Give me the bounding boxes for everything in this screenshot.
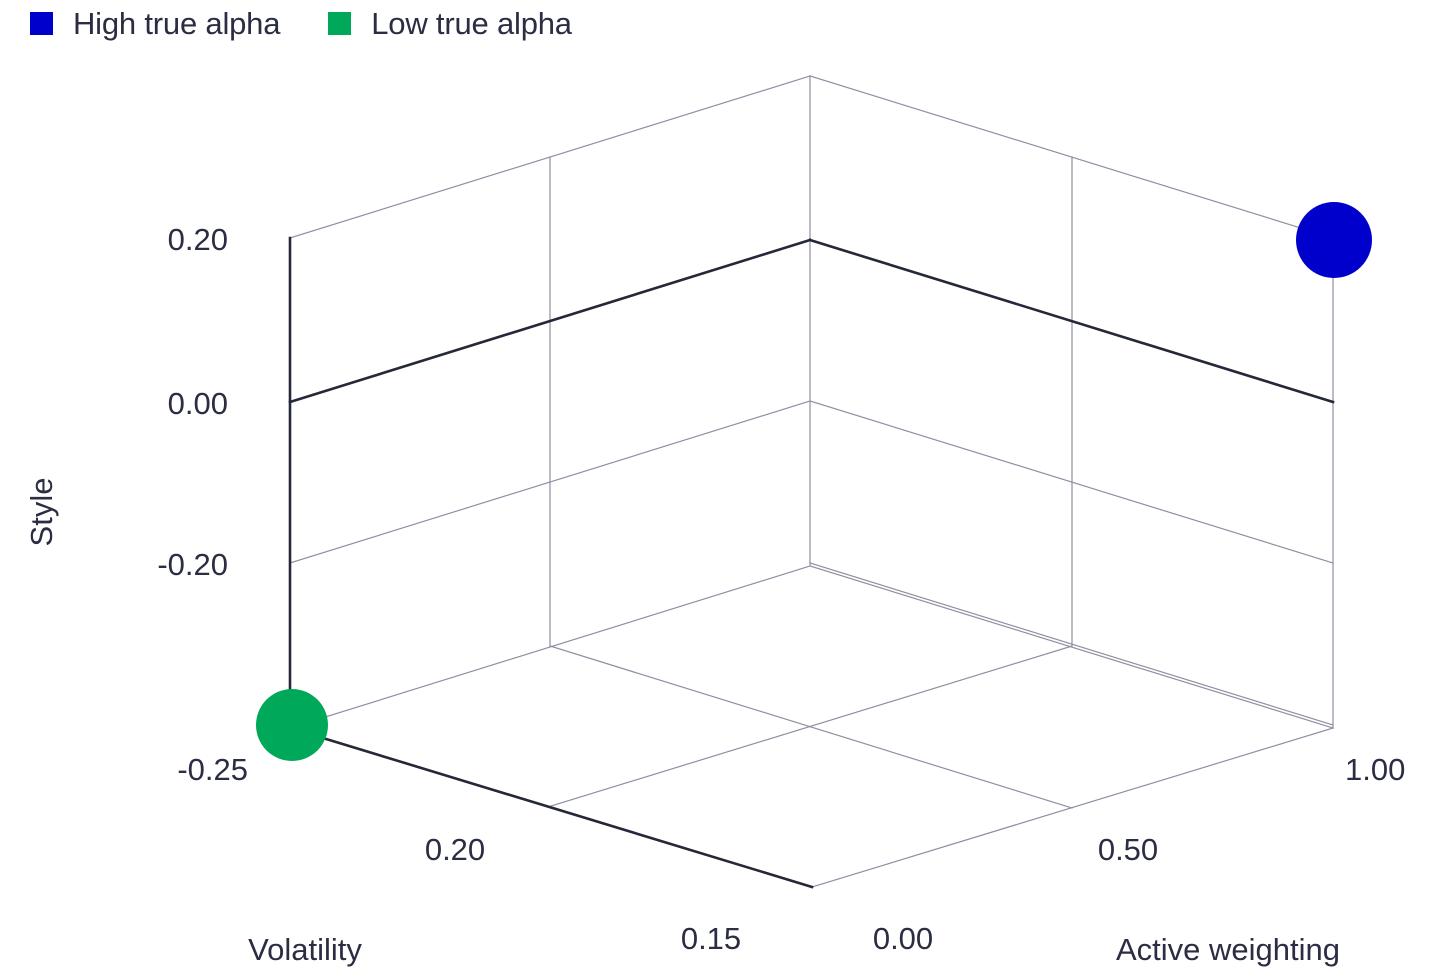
panel-grid bbox=[290, 76, 1333, 887]
z-tick-label-3: -0.25 bbox=[177, 752, 248, 787]
z-tick-label-1: 0.00 bbox=[168, 386, 228, 421]
data-point-low-true-alpha[interactable] bbox=[256, 689, 328, 761]
axis-title-volatility: Volatility bbox=[248, 932, 362, 967]
data-points bbox=[256, 202, 1372, 761]
axis-lines bbox=[290, 238, 1333, 887]
data-point-high-true-alpha[interactable] bbox=[1296, 202, 1372, 278]
active-weighting-tick-label-1: 0.50 bbox=[1098, 832, 1158, 867]
volatility-tick-label-1: 0.15 bbox=[681, 921, 741, 956]
axis-title-style: Style bbox=[24, 478, 59, 547]
axis-line-volatility bbox=[290, 728, 812, 887]
z-tick-label-0: 0.20 bbox=[168, 222, 228, 257]
active-weighting-tick-label-0: 1.00 bbox=[1345, 752, 1405, 787]
axis-title-active-weighting: Active weighting bbox=[1116, 932, 1340, 967]
active-weighting-tick-label-2: 0.00 bbox=[873, 921, 933, 956]
z-tick-label-2: -0.20 bbox=[157, 547, 228, 582]
chart-canvas: High true alpha Low true alpha bbox=[0, 0, 1431, 976]
scatter3d-plot: 0.20 0.00 -0.20 -0.25 Style 0.20 0.15 1.… bbox=[0, 0, 1431, 976]
volatility-tick-label-0: 0.20 bbox=[425, 832, 485, 867]
